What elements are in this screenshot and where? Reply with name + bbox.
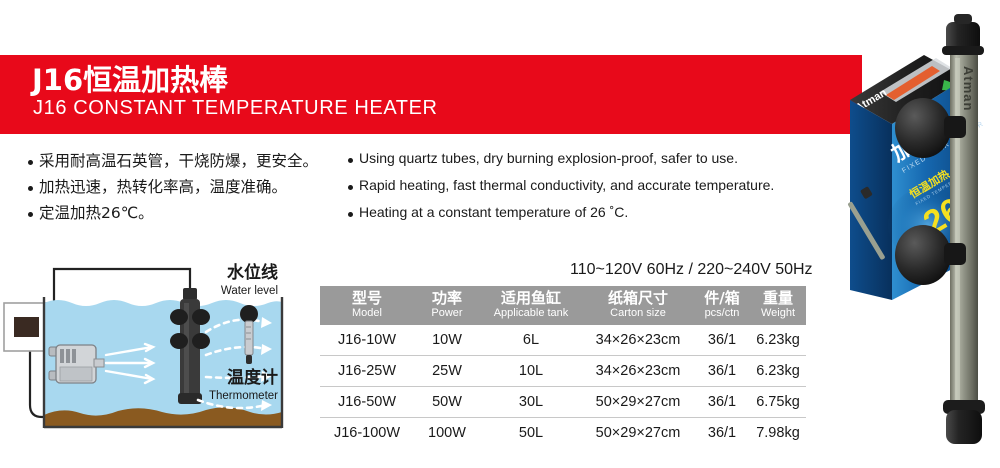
feature-item: 定温加热26℃。	[28, 204, 358, 222]
bullet-dot-icon	[28, 160, 33, 165]
feature-item: 采用耐高温石英管，干烧防爆，更安全。	[28, 152, 358, 170]
rod-cap-tip	[954, 14, 972, 24]
cell-power: 50W	[414, 387, 480, 418]
rod-brand-label: Atman	[961, 66, 976, 111]
cell-pcsctn: 36/1	[694, 356, 750, 387]
product-spec-sheet: J16恒温加热棒 J16 CONSTANT TEMPERATURE HEATER…	[0, 0, 1000, 468]
cell-tank: 50L	[480, 418, 582, 449]
header-banner: J16恒温加热棒 J16 CONSTANT TEMPERATURE HEATER	[0, 55, 862, 134]
rod-cap-flange	[942, 46, 984, 55]
voltage-spec: 110~120V 60Hz / 220~240V 50Hz	[570, 261, 813, 279]
column-header-model: 型号 Model	[320, 286, 414, 325]
water-level-label-cn: 水位线	[227, 262, 278, 283]
page-title-en: J16 CONSTANT TEMPERATURE HEATER	[33, 97, 438, 120]
feature-item: Heating at a constant temperature of 26 …	[348, 204, 778, 221]
cell-carton: 34×26×23cm	[582, 356, 694, 387]
bullet-dot-icon	[28, 212, 33, 217]
bullet-dot-icon	[28, 186, 33, 191]
cell-tank: 10L	[480, 356, 582, 387]
feature-text: Using quartz tubes, dry burning explosio…	[359, 150, 738, 167]
cell-tank: 6L	[480, 325, 582, 356]
bullet-dot-icon	[348, 212, 353, 217]
aquarium-diagram: 水位线 Water level 温度计 Thermometer	[0, 255, 312, 445]
filter-pump	[49, 345, 104, 383]
cell-weight: 6.23kg	[750, 356, 806, 387]
thermometer-label-en: Thermometer	[209, 390, 278, 402]
table-row: J16-10W 10W 6L 34×26×23cm 36/1 6.23kg	[320, 325, 806, 356]
box-left-face	[850, 100, 892, 300]
product-photo: <-- -->	[840, 0, 1000, 468]
cell-model: J16-25W	[320, 356, 414, 387]
column-header-applicable-tank: 适用鱼缸 Applicable tank	[480, 286, 582, 325]
feature-text: 定温加热26℃。	[39, 204, 154, 222]
table-header-row: 型号 Model 功率 Power 适用鱼缸 Applicable tank 纸…	[320, 286, 806, 325]
feature-item: Using quartz tubes, dry burning explosio…	[348, 150, 778, 167]
table-row: J16-25W 25W 10L 34×26×23cm 36/1 6.23kg	[320, 356, 806, 387]
bullet-dot-icon	[348, 185, 353, 190]
column-header-pcs-per-ctn: 件/箱 pcs/ctn	[694, 286, 750, 325]
cell-model: J16-50W	[320, 387, 414, 418]
feature-item: 加热迅速，热转化率高，温度准确。	[28, 178, 358, 196]
specification-table: 型号 Model 功率 Power 适用鱼缸 Applicable tank 纸…	[320, 286, 806, 448]
cell-carton: 50×29×27cm	[582, 387, 694, 418]
cell-power: 100W	[414, 418, 480, 449]
features-list-en: Using quartz tubes, dry burning explosio…	[348, 150, 778, 231]
feature-item: Rapid heating, fast thermal conductivity…	[348, 177, 778, 194]
column-header-weight: 重量 Weight	[750, 286, 806, 325]
table-row: J16-100W 100W 50L 50×29×27cm 36/1 7.98kg	[320, 418, 806, 449]
cell-model: J16-100W	[320, 418, 414, 449]
cell-pcsctn: 36/1	[694, 325, 750, 356]
socket-plug-icon	[14, 317, 39, 337]
cell-weight: 6.75kg	[750, 387, 806, 418]
cell-pcsctn: 36/1	[694, 418, 750, 449]
cell-weight: 6.23kg	[750, 325, 806, 356]
cell-power: 10W	[414, 325, 480, 356]
cell-power: 25W	[414, 356, 480, 387]
cell-model: J16-10W	[320, 325, 414, 356]
cell-pcsctn: 36/1	[694, 387, 750, 418]
features-list-cn: 采用耐高温石英管，干烧防爆，更安全。 加热迅速，热转化率高，温度准确。 定温加热…	[28, 152, 358, 230]
rod-bottom-cap	[946, 410, 982, 444]
rod-highlight	[955, 58, 960, 406]
cell-carton: 34×26×23cm	[582, 325, 694, 356]
feature-text: 加热迅速，热转化率高，温度准确。	[39, 178, 287, 196]
cell-weight: 7.98kg	[750, 418, 806, 449]
water-level-label-en: Water level	[221, 285, 278, 297]
column-header-carton-size: 纸箱尺寸 Carton size	[582, 286, 694, 325]
feature-text: Rapid heating, fast thermal conductivity…	[359, 177, 774, 194]
cell-tank: 30L	[480, 387, 582, 418]
thermometer-label-cn: 温度计	[227, 367, 278, 388]
page-title-cn: J16恒温加热棒	[32, 57, 228, 99]
cell-carton: 50×29×27cm	[582, 418, 694, 449]
column-header-power: 功率 Power	[414, 286, 480, 325]
table-row: J16-50W 50W 30L 50×29×27cm 36/1 6.75kg	[320, 387, 806, 418]
bullet-dot-icon	[348, 158, 353, 163]
feature-text: Heating at a constant temperature of 26 …	[359, 204, 628, 221]
feature-text: 采用耐高温石英管，干烧防爆，更安全。	[39, 152, 318, 170]
